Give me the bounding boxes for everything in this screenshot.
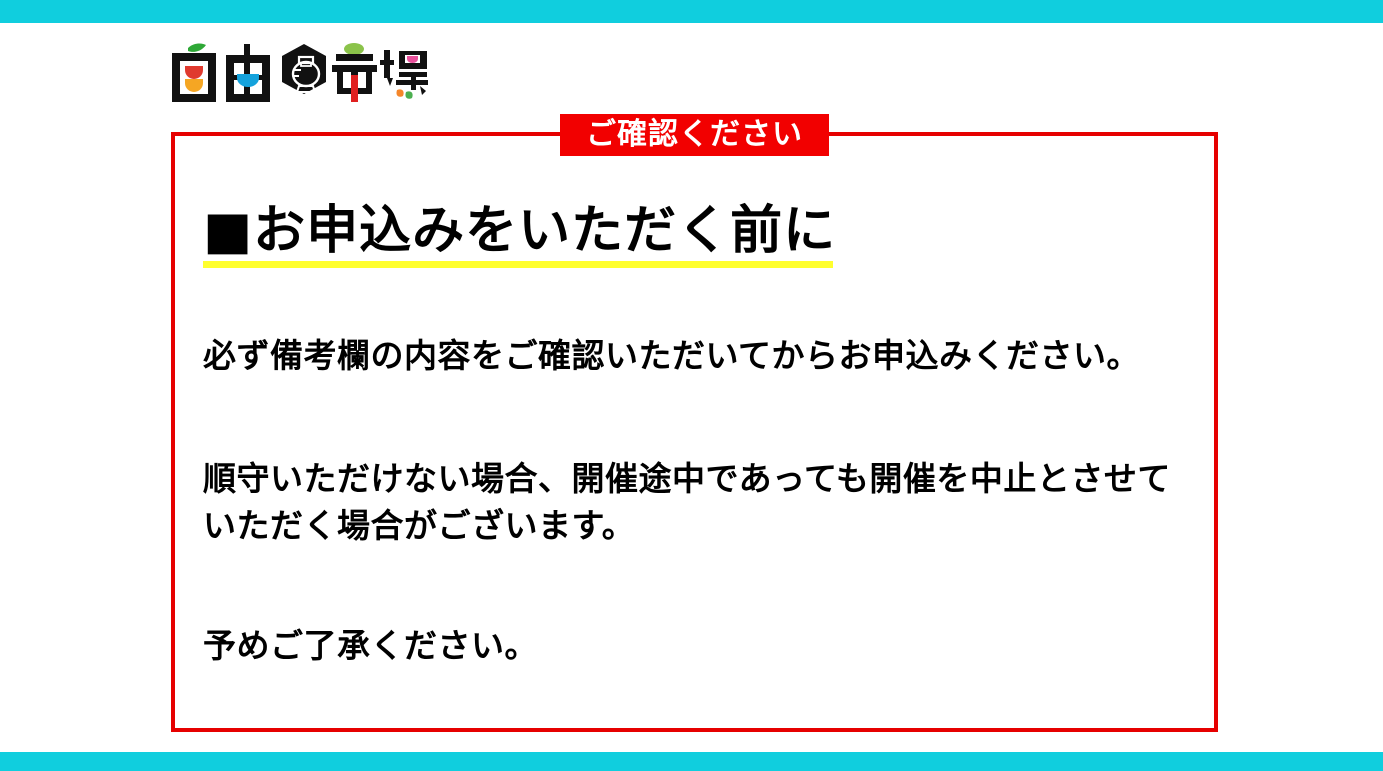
- bottom-accent-bar: [0, 752, 1383, 771]
- notice-heading: ■お申込みをいただく前に: [203, 200, 836, 263]
- logo-glyph-pot-hexagon: [282, 44, 326, 94]
- logo-glyph-yu: [226, 44, 270, 102]
- top-accent-bar: [0, 0, 1383, 23]
- logo-glyph-ba: [380, 50, 428, 99]
- notice-heading-wrap: ■お申込みをいただく前に: [203, 200, 836, 263]
- confirm-badge: ご確認ください: [560, 114, 829, 156]
- notice-paragraph-2: 順守いただけない場合、開催途中であっても開催を中止とさせていただく場合がございま…: [203, 456, 1183, 550]
- notice-content: ■お申込みをいただく前に 必ず備考欄の内容をご確認いただいてからお申込みください…: [203, 200, 1183, 263]
- heading-underline: [203, 261, 833, 268]
- logo-glyph-ichi: [332, 43, 377, 102]
- brand-logo: [168, 40, 428, 106]
- logo-glyph-shiro: [172, 43, 216, 102]
- notice-paragraph-3: 予めご了承ください。: [203, 623, 1183, 670]
- notice-paragraph-1: 必ず備考欄の内容をご確認いただいてからお申込みください。: [203, 333, 1183, 380]
- confirm-badge-label: ご確認ください: [586, 120, 803, 150]
